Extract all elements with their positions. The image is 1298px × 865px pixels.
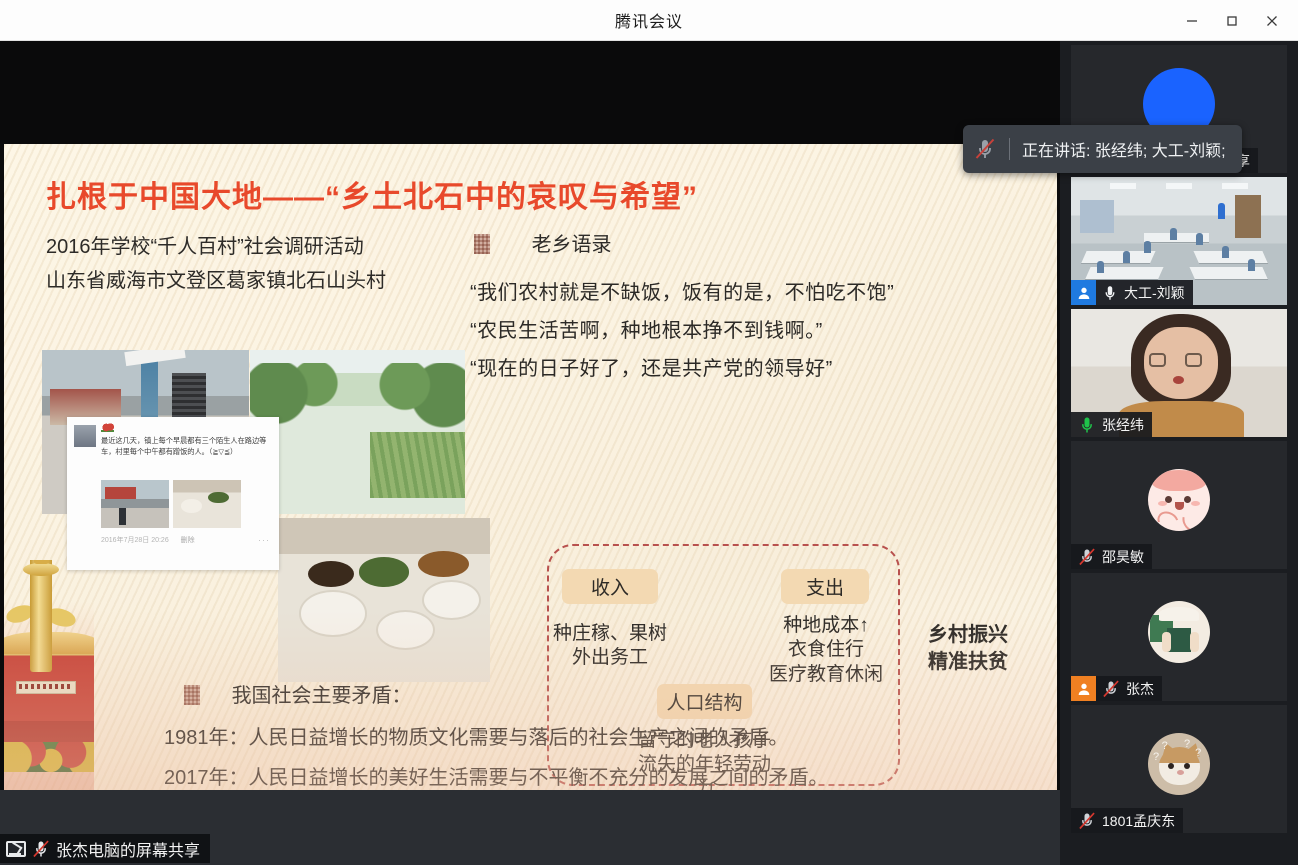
mouth: [1173, 376, 1184, 384]
question-mark-icon: ?: [1153, 751, 1159, 763]
avatar-arm: [1154, 508, 1182, 531]
question-mark-icon: ?: [1195, 747, 1201, 759]
rice-bowl-1: [299, 590, 367, 637]
dish-greens: [359, 557, 410, 587]
gate-plaque: [16, 681, 76, 694]
avatar-hand: [1190, 632, 1199, 652]
tile-badge-bar: 邵昊敏: [1071, 544, 1152, 569]
participant-name: 张经纬: [1102, 415, 1144, 435]
mic-muted-icon: [1077, 547, 1097, 567]
mic-on-icon: [1101, 284, 1119, 302]
window: [1080, 200, 1115, 233]
window-title: 腾讯会议: [615, 8, 683, 32]
avatar-hat: [1159, 607, 1199, 621]
participant-tile-zhangjingwei[interactable]: 张经纬: [1071, 309, 1287, 437]
roadside-crops: [370, 432, 465, 498]
presentation-slide: 扎根于中国大地——“乡土北石中的哀叹与希望” 2016年学校“千人百村”社会调研…: [4, 144, 1057, 790]
question-mark-icon: ?: [1162, 740, 1168, 752]
wechat-nickname-emoji-icon: [101, 423, 114, 432]
quote-3: “现在的日子好了，还是共产党的领导好”: [470, 352, 833, 381]
seated-person: [1196, 233, 1203, 245]
wechat-avatar: [74, 425, 96, 447]
person-icon: [1076, 681, 1092, 697]
diagram-expense-items: 种地成本↑ 衣食住行 医疗教育休闲: [764, 614, 888, 687]
avatar-cap: [1152, 470, 1207, 491]
dish-meat: [418, 551, 469, 577]
window-controls: [1172, 0, 1292, 41]
avatar-blush: [1158, 501, 1167, 506]
seated-person: [1144, 241, 1151, 253]
minimize-button[interactable]: [1172, 0, 1212, 41]
cat-nose: [1177, 770, 1184, 775]
participant-name: 大工-刘颖: [1124, 283, 1185, 303]
rice-bowl-3: [422, 580, 481, 620]
seated-person: [1097, 261, 1104, 273]
participant-name: 张杰: [1126, 679, 1154, 699]
participant-tile-mengqingdong[interactable]: ? ? ? ? 1801孟庆东: [1071, 705, 1287, 833]
speaking-tooltip: 正在讲话: 张经纬; 大工-刘颖;: [963, 125, 1242, 173]
cat-avatar: ? ? ? ?: [1148, 733, 1210, 795]
speaking-tooltip-text: 正在讲话: 张经纬; 大工-刘颖;: [1022, 137, 1226, 161]
participant-tile-shaohaomin[interactable]: 邵昊敏: [1071, 441, 1287, 569]
contradiction-1981: 1981年：人民日益增长的物质文化需要与落后的社会生产之间的矛盾。: [164, 721, 789, 750]
wechat-post-images: [101, 480, 241, 528]
orange-person-badge: [1071, 676, 1096, 701]
quotes-heading: 老乡语录: [532, 234, 612, 256]
rice-bowl-2: [376, 610, 435, 650]
roadside-trees: [250, 363, 465, 435]
sharer-label-text: 张杰电脑的屏幕共享: [56, 837, 200, 861]
minimize-icon: [1185, 14, 1199, 28]
bullet-square-icon: [474, 234, 490, 254]
quotes-heading-row: 老乡语录: [474, 228, 612, 257]
wechat-photo-food: [173, 480, 241, 528]
meeting-body: 扎根于中国大地——“乡土北石中的哀叹与希望” 2016年学校“千人百村”社会调研…: [0, 41, 1298, 865]
glasses-right-lens: [1185, 353, 1202, 367]
flower-bed: [4, 738, 94, 772]
ceiling-lamp: [1110, 183, 1136, 188]
mic-muted-icon: [1101, 679, 1121, 699]
table: [1189, 267, 1268, 279]
glasses-left-lens: [1149, 353, 1166, 367]
mic-muted-icon: [973, 137, 997, 161]
village-meal-photo: [278, 518, 490, 682]
diagram-population-chip: 人口结构: [657, 684, 752, 719]
street-sign: [124, 350, 185, 366]
wechat-more-button[interactable]: ···: [258, 535, 270, 545]
tiananmen-decoration: [4, 560, 94, 790]
bullet-square-icon: [184, 685, 200, 705]
ceiling-lamp: [1222, 183, 1248, 188]
contradiction-heading-row: 我国社会主要矛盾：: [184, 679, 412, 708]
maximize-icon: [1225, 14, 1239, 28]
tooltip-divider: [1009, 138, 1010, 160]
illustration-avatar: [1148, 601, 1210, 663]
tile-badge-bar: 大工-刘颖: [1071, 280, 1193, 305]
screen-share-icon: [6, 841, 26, 857]
wechat-post-card: 最近这几天，镇上每个早晨都有三个陌生人在路边等车，村里每个中午都有蹭饭的人。（≧…: [67, 417, 279, 570]
huabiao-cap: [23, 563, 59, 576]
participant-tile-classroom[interactable]: 大工-刘颖: [1071, 177, 1287, 305]
seated-person: [1123, 251, 1130, 263]
seated-person: [1170, 228, 1177, 240]
mic-muted-icon: [31, 839, 51, 859]
avatar-mouth: [1175, 502, 1184, 510]
avatar-arm: [1179, 507, 1206, 531]
titlebar: 腾讯会议: [0, 0, 1298, 41]
participant-tile-zhangjie[interactable]: 张杰: [1071, 573, 1287, 701]
dish-dark: [308, 561, 355, 587]
standing-person: [1218, 203, 1225, 219]
door: [1235, 195, 1261, 239]
slide-subtitle-2: 山东省威海市文登区葛家镇北石山头村: [46, 264, 386, 293]
sharer-label-bar: 张杰电脑的屏幕共享: [0, 834, 210, 863]
quote-1: “我们农村就是不缺饭，饭有的是，不怕吃不饱”: [470, 276, 894, 305]
question-mark-icon: ?: [1184, 738, 1190, 750]
stage-letterbox-top: [0, 41, 1060, 143]
tile-badge-bar: 1801孟庆东: [1071, 808, 1183, 833]
close-button[interactable]: [1252, 0, 1292, 41]
mic-muted-icon: [1077, 811, 1097, 831]
wechat-delete-link[interactable]: 删除: [181, 537, 195, 544]
cat-eye: [1168, 763, 1174, 769]
maximize-button[interactable]: [1212, 0, 1252, 41]
seated-person: [1222, 246, 1229, 258]
seated-person: [1248, 259, 1255, 271]
wechat-post-timestamp: 2016年7月28日 20:26: [101, 537, 169, 544]
quote-2: “农民生活苦啊，种地根本挣不到钱啊。”: [470, 314, 823, 343]
contradiction-2017: 2017年：人民日益增长的美好生活需要与不平衡不充分的发展之间的矛盾。: [164, 761, 829, 790]
huabiao-column: [30, 560, 52, 672]
diagram-income-items: 种庄稼、果树 外出务工: [544, 622, 676, 671]
person-icon: [1076, 285, 1092, 301]
slide-title: 扎根于中国大地——“乡土北石中的哀叹与希望”: [46, 172, 698, 216]
pink-cartoon-avatar: [1148, 469, 1210, 531]
mic-on-green-icon: [1077, 415, 1097, 435]
wechat-post-text: 最近这几天，镇上每个早晨都有三个陌生人在路边等车，村里每个中午都有蹭饭的人。（≧…: [101, 435, 269, 457]
tile-badge-bar: 张杰: [1071, 676, 1162, 701]
diagram-expense-chip: 支出: [781, 569, 869, 604]
cat-eye: [1184, 763, 1190, 769]
slide-slogan: 乡村振兴 精准扶贫: [920, 622, 1016, 676]
shared-screen-stage[interactable]: 扎根于中国大地——“乡土北石中的哀叹与希望” 2016年学校“千人百村”社会调研…: [0, 41, 1060, 865]
table: [1194, 251, 1268, 263]
participant-name: 邵昊敏: [1102, 547, 1144, 567]
participant-name: 1801孟庆东: [1102, 811, 1175, 831]
diagram-income-chip: 收入: [562, 569, 658, 604]
avatar-blush: [1191, 501, 1200, 506]
huabiao-lion-icon: [34, 560, 49, 564]
wechat-post-footer: 2016年7月28日 20:26 删除: [101, 535, 195, 545]
country-road-photo: [250, 350, 465, 514]
tencent-meeting-window: 腾讯会议: [0, 0, 1298, 865]
slide-subtitle-1: 2016年学校“千人百村”社会调研活动: [46, 230, 364, 259]
ceiling-lamp: [1166, 183, 1192, 188]
contradiction-heading: 我国社会主要矛盾：: [232, 685, 412, 707]
close-icon: [1264, 13, 1280, 29]
avatar-eye: [1184, 496, 1191, 503]
avatar-hand: [1162, 632, 1171, 652]
tile-badge-bar: 张经纬: [1071, 412, 1152, 437]
wechat-photo-street: [101, 480, 169, 528]
blue-person-badge: [1071, 280, 1096, 305]
